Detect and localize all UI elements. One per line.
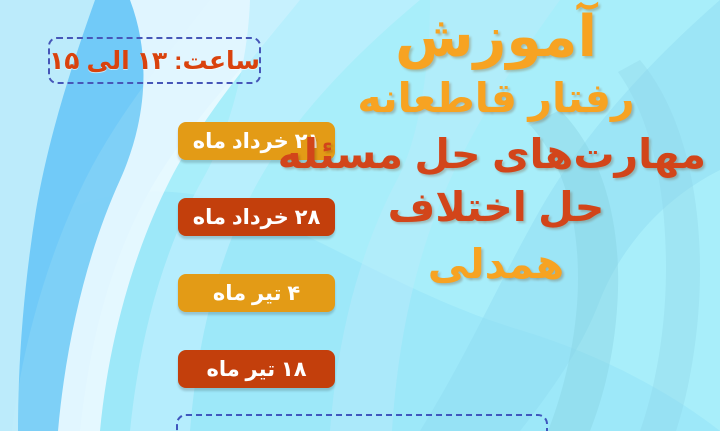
- time-label: ساعت: ۱۳ الی ۱۵: [49, 46, 260, 76]
- date-button-4-label: ۱۸ تیر ماه: [206, 357, 306, 382]
- headline-block: آموزش رفتار قاطعانه مهارت‌های حل مسئله ح…: [286, 6, 706, 292]
- time-badge: ساعت: ۱۳ الی ۱۵: [48, 37, 261, 84]
- headline-line-2: مهارت‌های حل مسئله: [286, 126, 706, 183]
- date-button-4[interactable]: ۱۸ تیر ماه: [178, 350, 335, 388]
- bottom-dashed-box: [176, 414, 548, 431]
- headline-line-4: همدلی: [286, 236, 706, 293]
- headline-line-3: حل اختلاف: [286, 179, 706, 236]
- poster-canvas: ساعت: ۱۳ الی ۱۵ ۲۱ خرداد ماه ۲۸ خرداد ما…: [0, 0, 720, 431]
- poster-title: آموزش: [286, 6, 706, 70]
- headline-line-1: رفتار قاطعانه: [286, 70, 706, 127]
